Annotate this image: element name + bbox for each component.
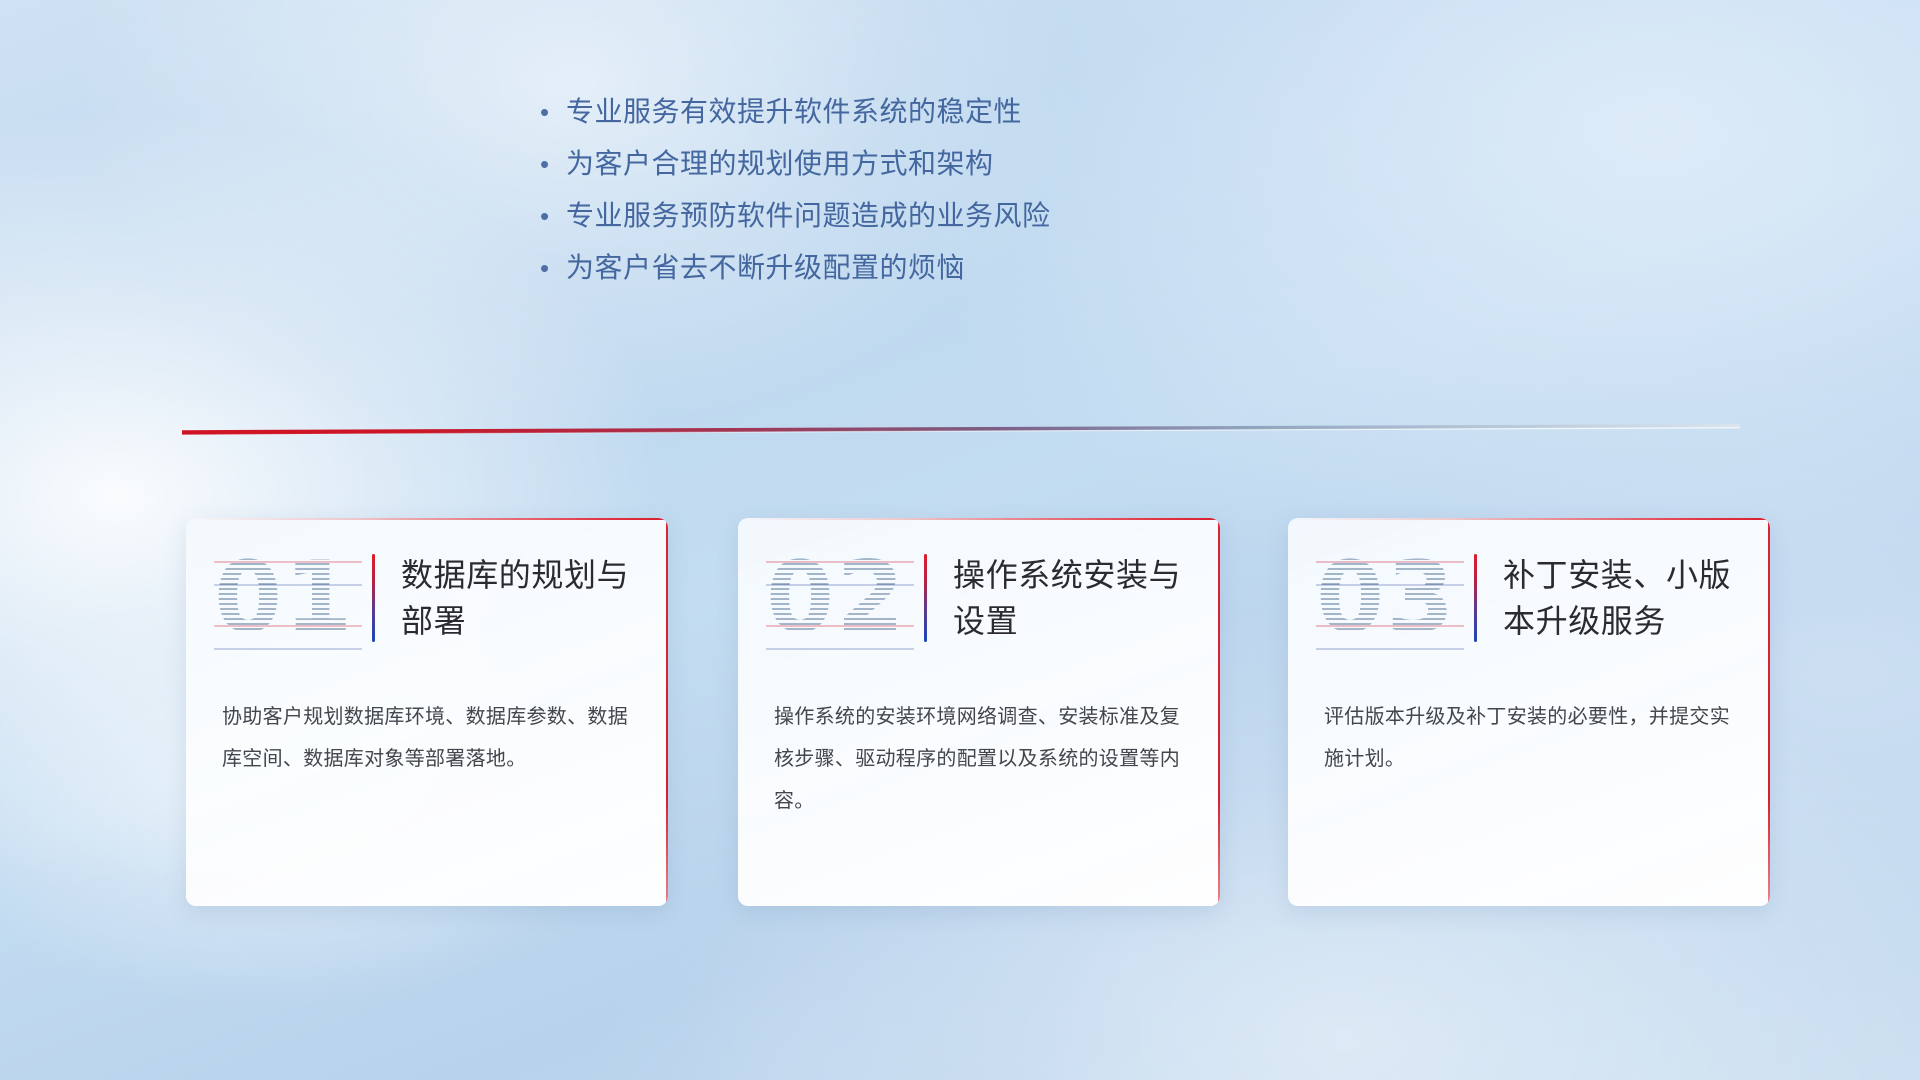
card-title-divider [924,554,927,642]
bullet-text: 专业服务预防软件问题造成的业务风险 [566,190,1051,242]
bullet-text: 专业服务有效提升软件系统的稳定性 [566,86,1022,138]
list-item: • 专业服务有效提升软件系统的稳定性 [540,86,1360,138]
bullet-dot-icon: • [540,190,566,242]
card-number-text: 03 [1316,543,1464,653]
service-card-01[interactable]: 01 数据库的规划与部署 协助客户规划数据库环境、数据库参数、数据库空间、数据库… [186,518,668,906]
card-number-glyph: 02 [766,543,914,653]
card-number-glyph: 03 [1316,543,1464,653]
list-item: • 专业服务预防软件问题造成的业务风险 [540,190,1360,242]
card-body-text: 操作系统的安装环境网络调查、安装标准及复核步骤、驱动程序的配置以及系统的设置等内… [738,678,1220,822]
service-card-02[interactable]: 02 操作系统安装与设置 操作系统的安装环境网络调查、安装标准及复核步骤、驱动程… [738,518,1220,906]
card-header: 01 数据库的规划与部署 [186,518,668,678]
bullet-list: • 专业服务有效提升软件系统的稳定性 • 为客户合理的规划使用方式和架构 • 专… [540,86,1360,294]
card-row: 01 数据库的规划与部署 协助客户规划数据库环境、数据库参数、数据库空间、数据库… [0,518,1920,918]
list-item: • 为客户省去不断升级配置的烦恼 [540,242,1360,294]
service-card-03[interactable]: 03 补丁安装、小版本升级服务 评估版本升级及补丁安装的必要性，并提交实施计划。 [1288,518,1770,906]
bullet-text: 为客户省去不断升级配置的烦恼 [566,242,965,294]
card-title-divider [1474,554,1477,642]
card-header: 03 补丁安装、小版本升级服务 [1288,518,1770,678]
card-number-text: 02 [766,543,914,653]
bullet-text: 为客户合理的规划使用方式和架构 [566,138,994,190]
card-title: 操作系统安装与设置 [953,552,1186,644]
bullet-dot-icon: • [540,86,566,138]
bullet-dot-icon: • [540,242,566,294]
slide-canvas: • 专业服务有效提升软件系统的稳定性 • 为客户合理的规划使用方式和架构 • 专… [0,0,1920,1080]
card-title: 数据库的规划与部署 [401,552,634,644]
card-body-text: 协助客户规划数据库环境、数据库参数、数据库空间、数据库对象等部署落地。 [186,678,668,780]
accent-divider [182,424,1740,438]
card-header: 02 操作系统安装与设置 [738,518,1220,678]
card-title: 补丁安装、小版本升级服务 [1503,552,1736,644]
list-item: • 为客户合理的规划使用方式和架构 [540,138,1360,190]
card-body-text: 评估版本升级及补丁安装的必要性，并提交实施计划。 [1288,678,1770,780]
card-number-text: 01 [214,543,362,653]
card-title-divider [372,554,375,642]
card-number-glyph: 01 [214,543,362,653]
divider-line-icon [182,424,1740,438]
bullet-dot-icon: • [540,138,566,190]
